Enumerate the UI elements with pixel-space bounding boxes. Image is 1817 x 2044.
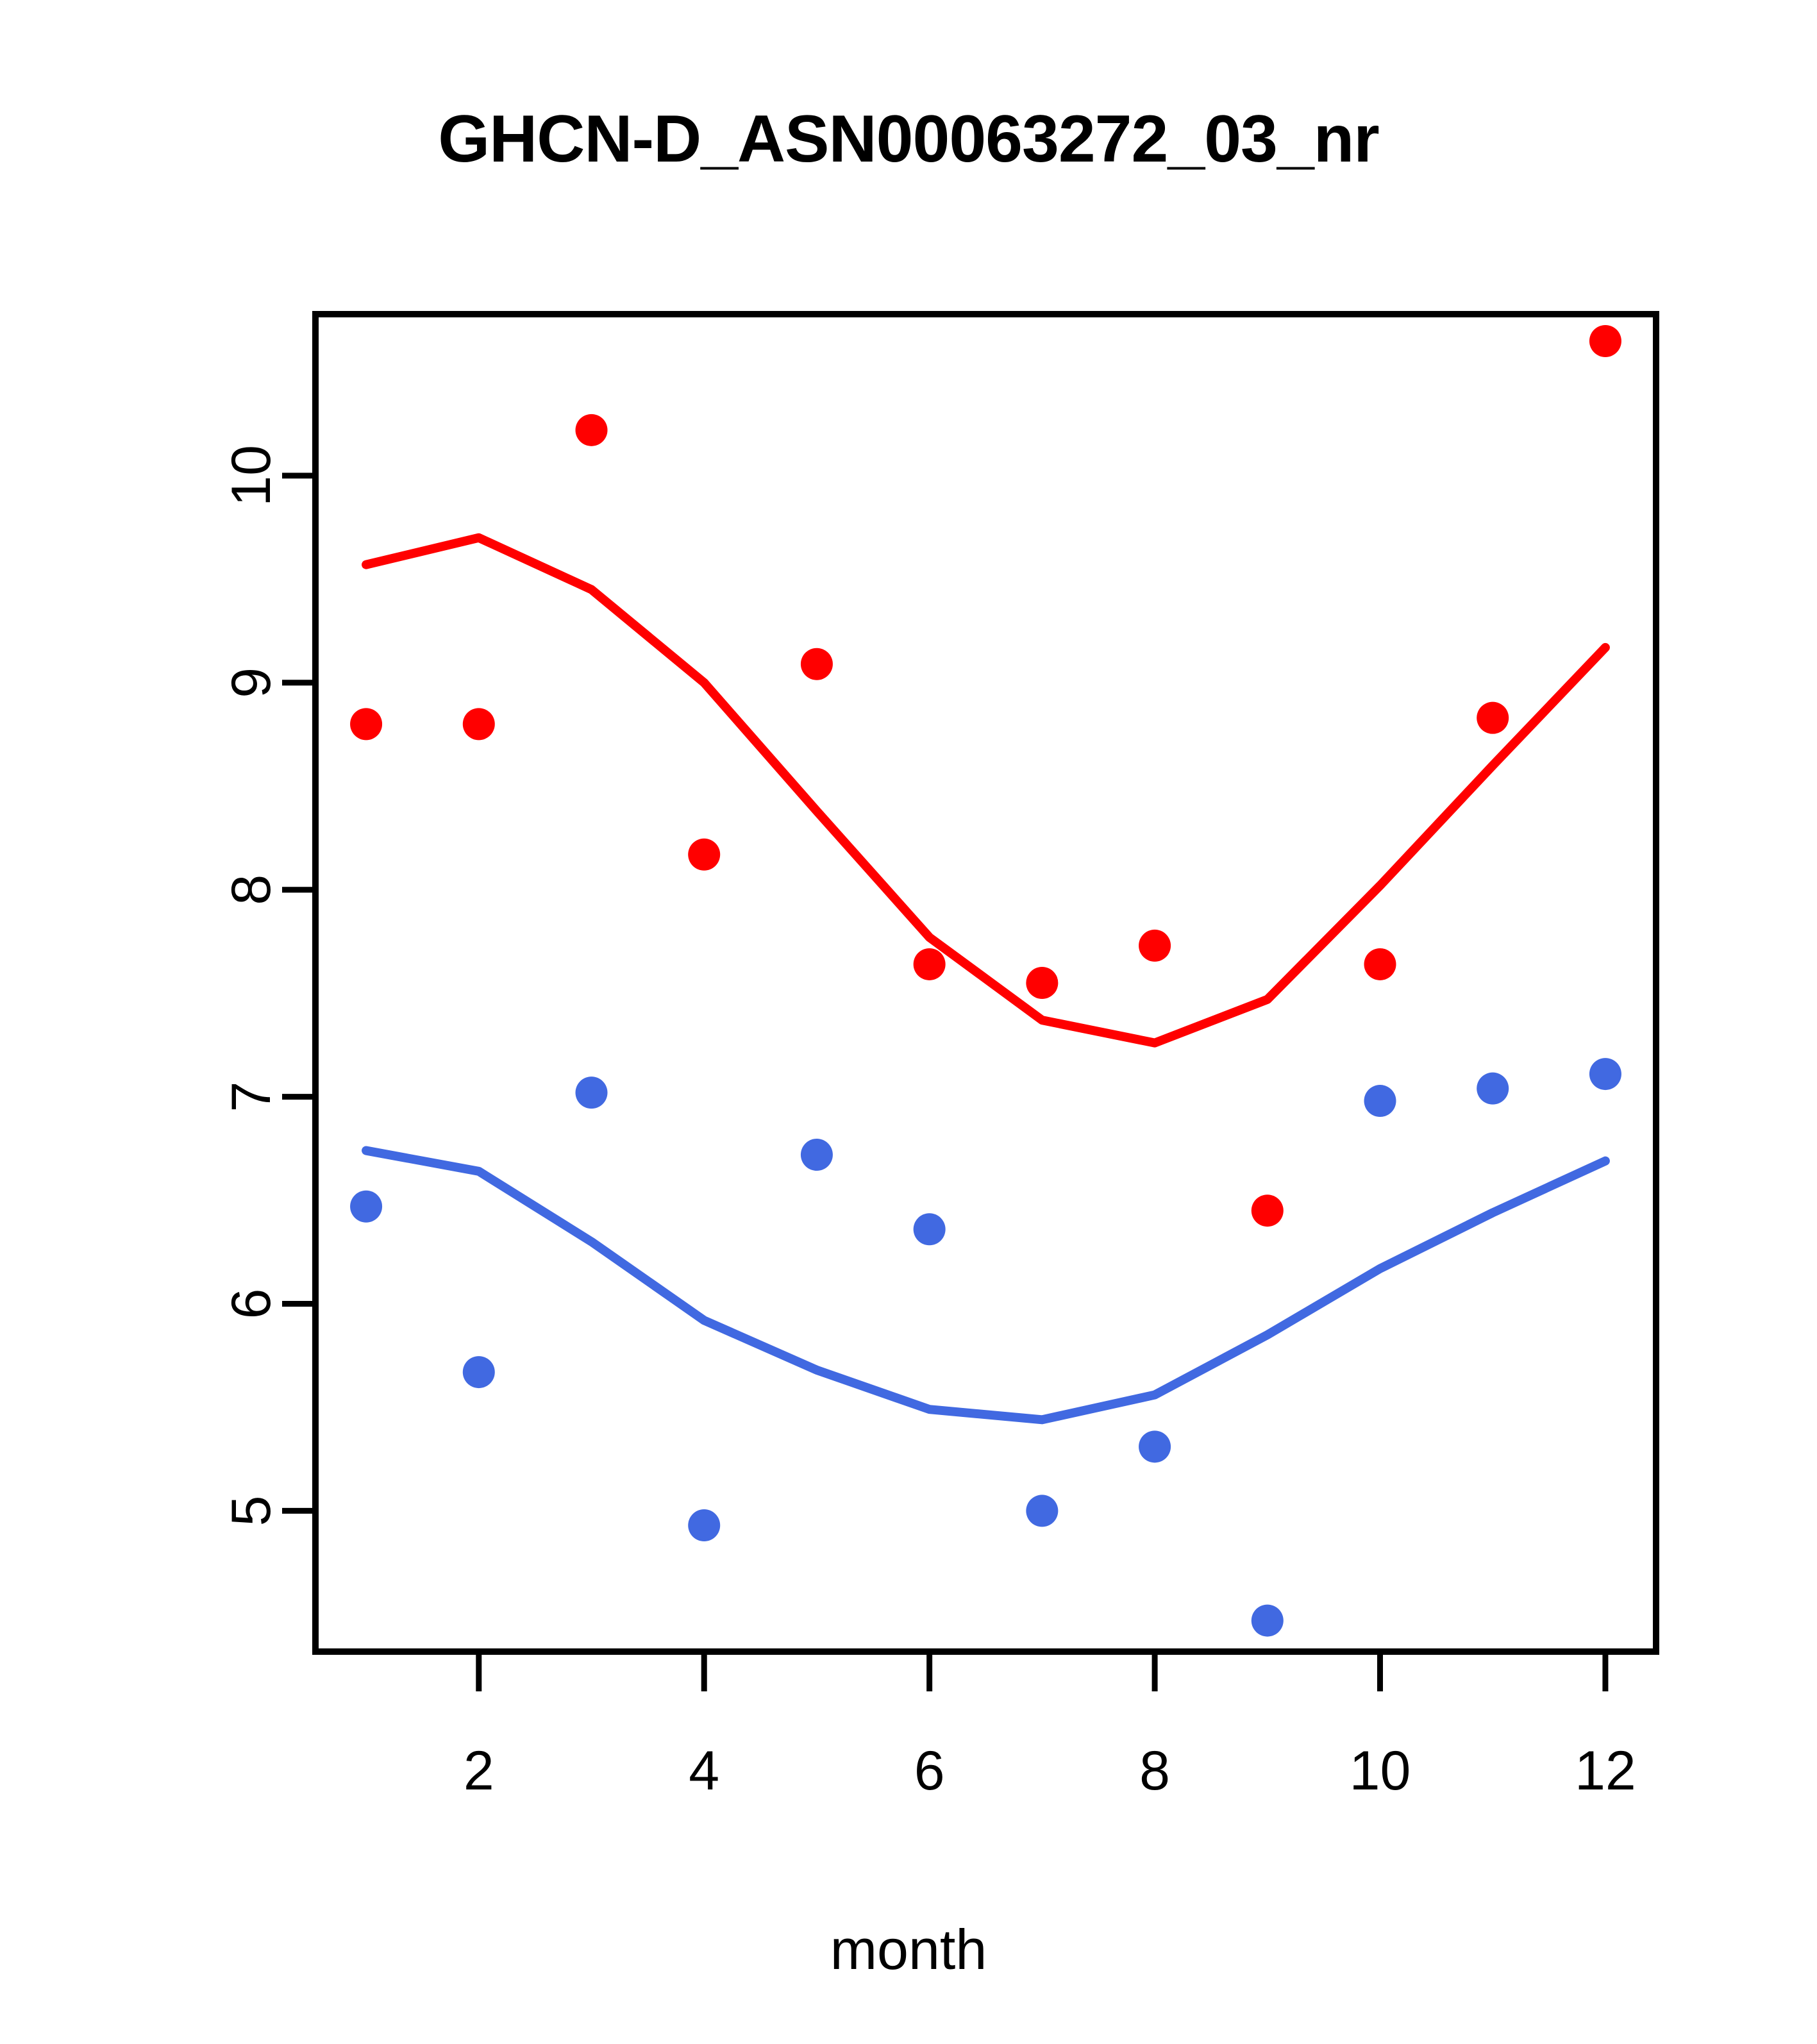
y-axis-tick-label: 10 <box>221 445 282 507</box>
y-axis-tick-label: 5 <box>221 1495 282 1526</box>
red-points-marker <box>576 414 608 446</box>
y-axis-tick-label: 9 <box>221 667 282 698</box>
y-axis-tick-label: 7 <box>221 1082 282 1112</box>
x-axis-tick-label: 10 <box>1350 1740 1411 1802</box>
red-line <box>366 538 1605 1043</box>
scatter-plot: 567891024681012 <box>0 0 1817 2044</box>
blue-points-marker <box>1589 1058 1621 1090</box>
blue-points-marker <box>1139 1430 1171 1462</box>
y-axis-tick-label: 8 <box>221 875 282 905</box>
blue-points-marker <box>1252 1605 1284 1637</box>
red-points-marker <box>1026 967 1058 999</box>
x-axis-title: month <box>0 1917 1817 1982</box>
blue-points-marker <box>801 1139 833 1171</box>
blue-points-marker <box>1477 1073 1509 1105</box>
red-points-marker <box>914 948 946 980</box>
blue-points-marker <box>914 1213 946 1245</box>
red-points-marker <box>1139 930 1171 962</box>
x-axis-tick-label: 8 <box>1139 1740 1170 1802</box>
blue-points-marker <box>463 1356 495 1388</box>
red-points-marker <box>1252 1194 1284 1227</box>
red-points-marker <box>801 648 833 680</box>
red-points-marker <box>688 839 720 871</box>
blue-points-marker <box>576 1076 608 1109</box>
blue-points-marker <box>688 1509 720 1541</box>
blue-points-marker <box>1364 1085 1396 1117</box>
x-axis-tick-label: 4 <box>689 1740 719 1802</box>
blue-line <box>366 1151 1605 1420</box>
red-points-marker <box>1364 948 1396 980</box>
red-points-marker <box>350 708 382 740</box>
blue-points-marker <box>350 1191 382 1223</box>
red-points-marker <box>1477 702 1509 734</box>
red-points-marker <box>463 708 495 740</box>
blue-points-marker <box>1026 1495 1058 1527</box>
x-axis-tick-label: 12 <box>1575 1740 1636 1802</box>
y-axis-tick-label: 6 <box>221 1289 282 1319</box>
x-axis-tick-label: 6 <box>914 1740 945 1802</box>
red-points-marker <box>1589 325 1621 357</box>
chart-page: GHCN-D_ASN00063272_03_nr 567891024681012… <box>0 0 1817 2044</box>
x-axis-tick-label: 2 <box>464 1740 494 1802</box>
